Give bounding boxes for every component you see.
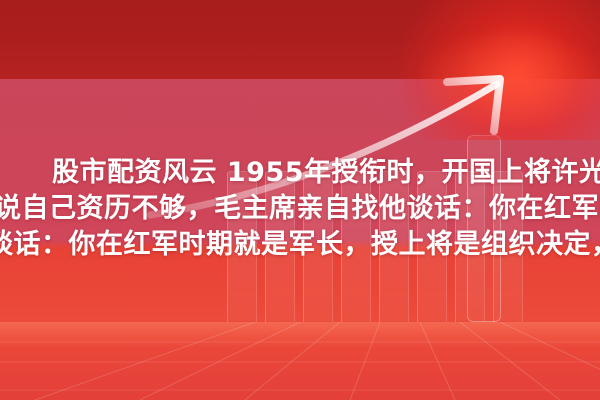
perspective-grid-floor [0, 322, 600, 400]
headline-line-3: 谈话：你在红军时期就是军长，授上将是组织决定， [0, 227, 600, 263]
headline-line-1: 股市配资风云 1955年授衔时，开国上将许光 [0, 155, 600, 191]
banner-image: 股市配资风云 1955年授衔时，开国上将许光 说自己资历不够，毛主席亲自找他谈话… [0, 0, 600, 400]
headline-block: 股市配资风云 1955年授衔时，开国上将许光 说自己资历不够，毛主席亲自找他谈话… [0, 155, 600, 263]
floor-grid-lines [0, 322, 600, 400]
headline-line-2: 说自己资历不够，毛主席亲自找他谈话：你在红军时期 [0, 191, 600, 227]
